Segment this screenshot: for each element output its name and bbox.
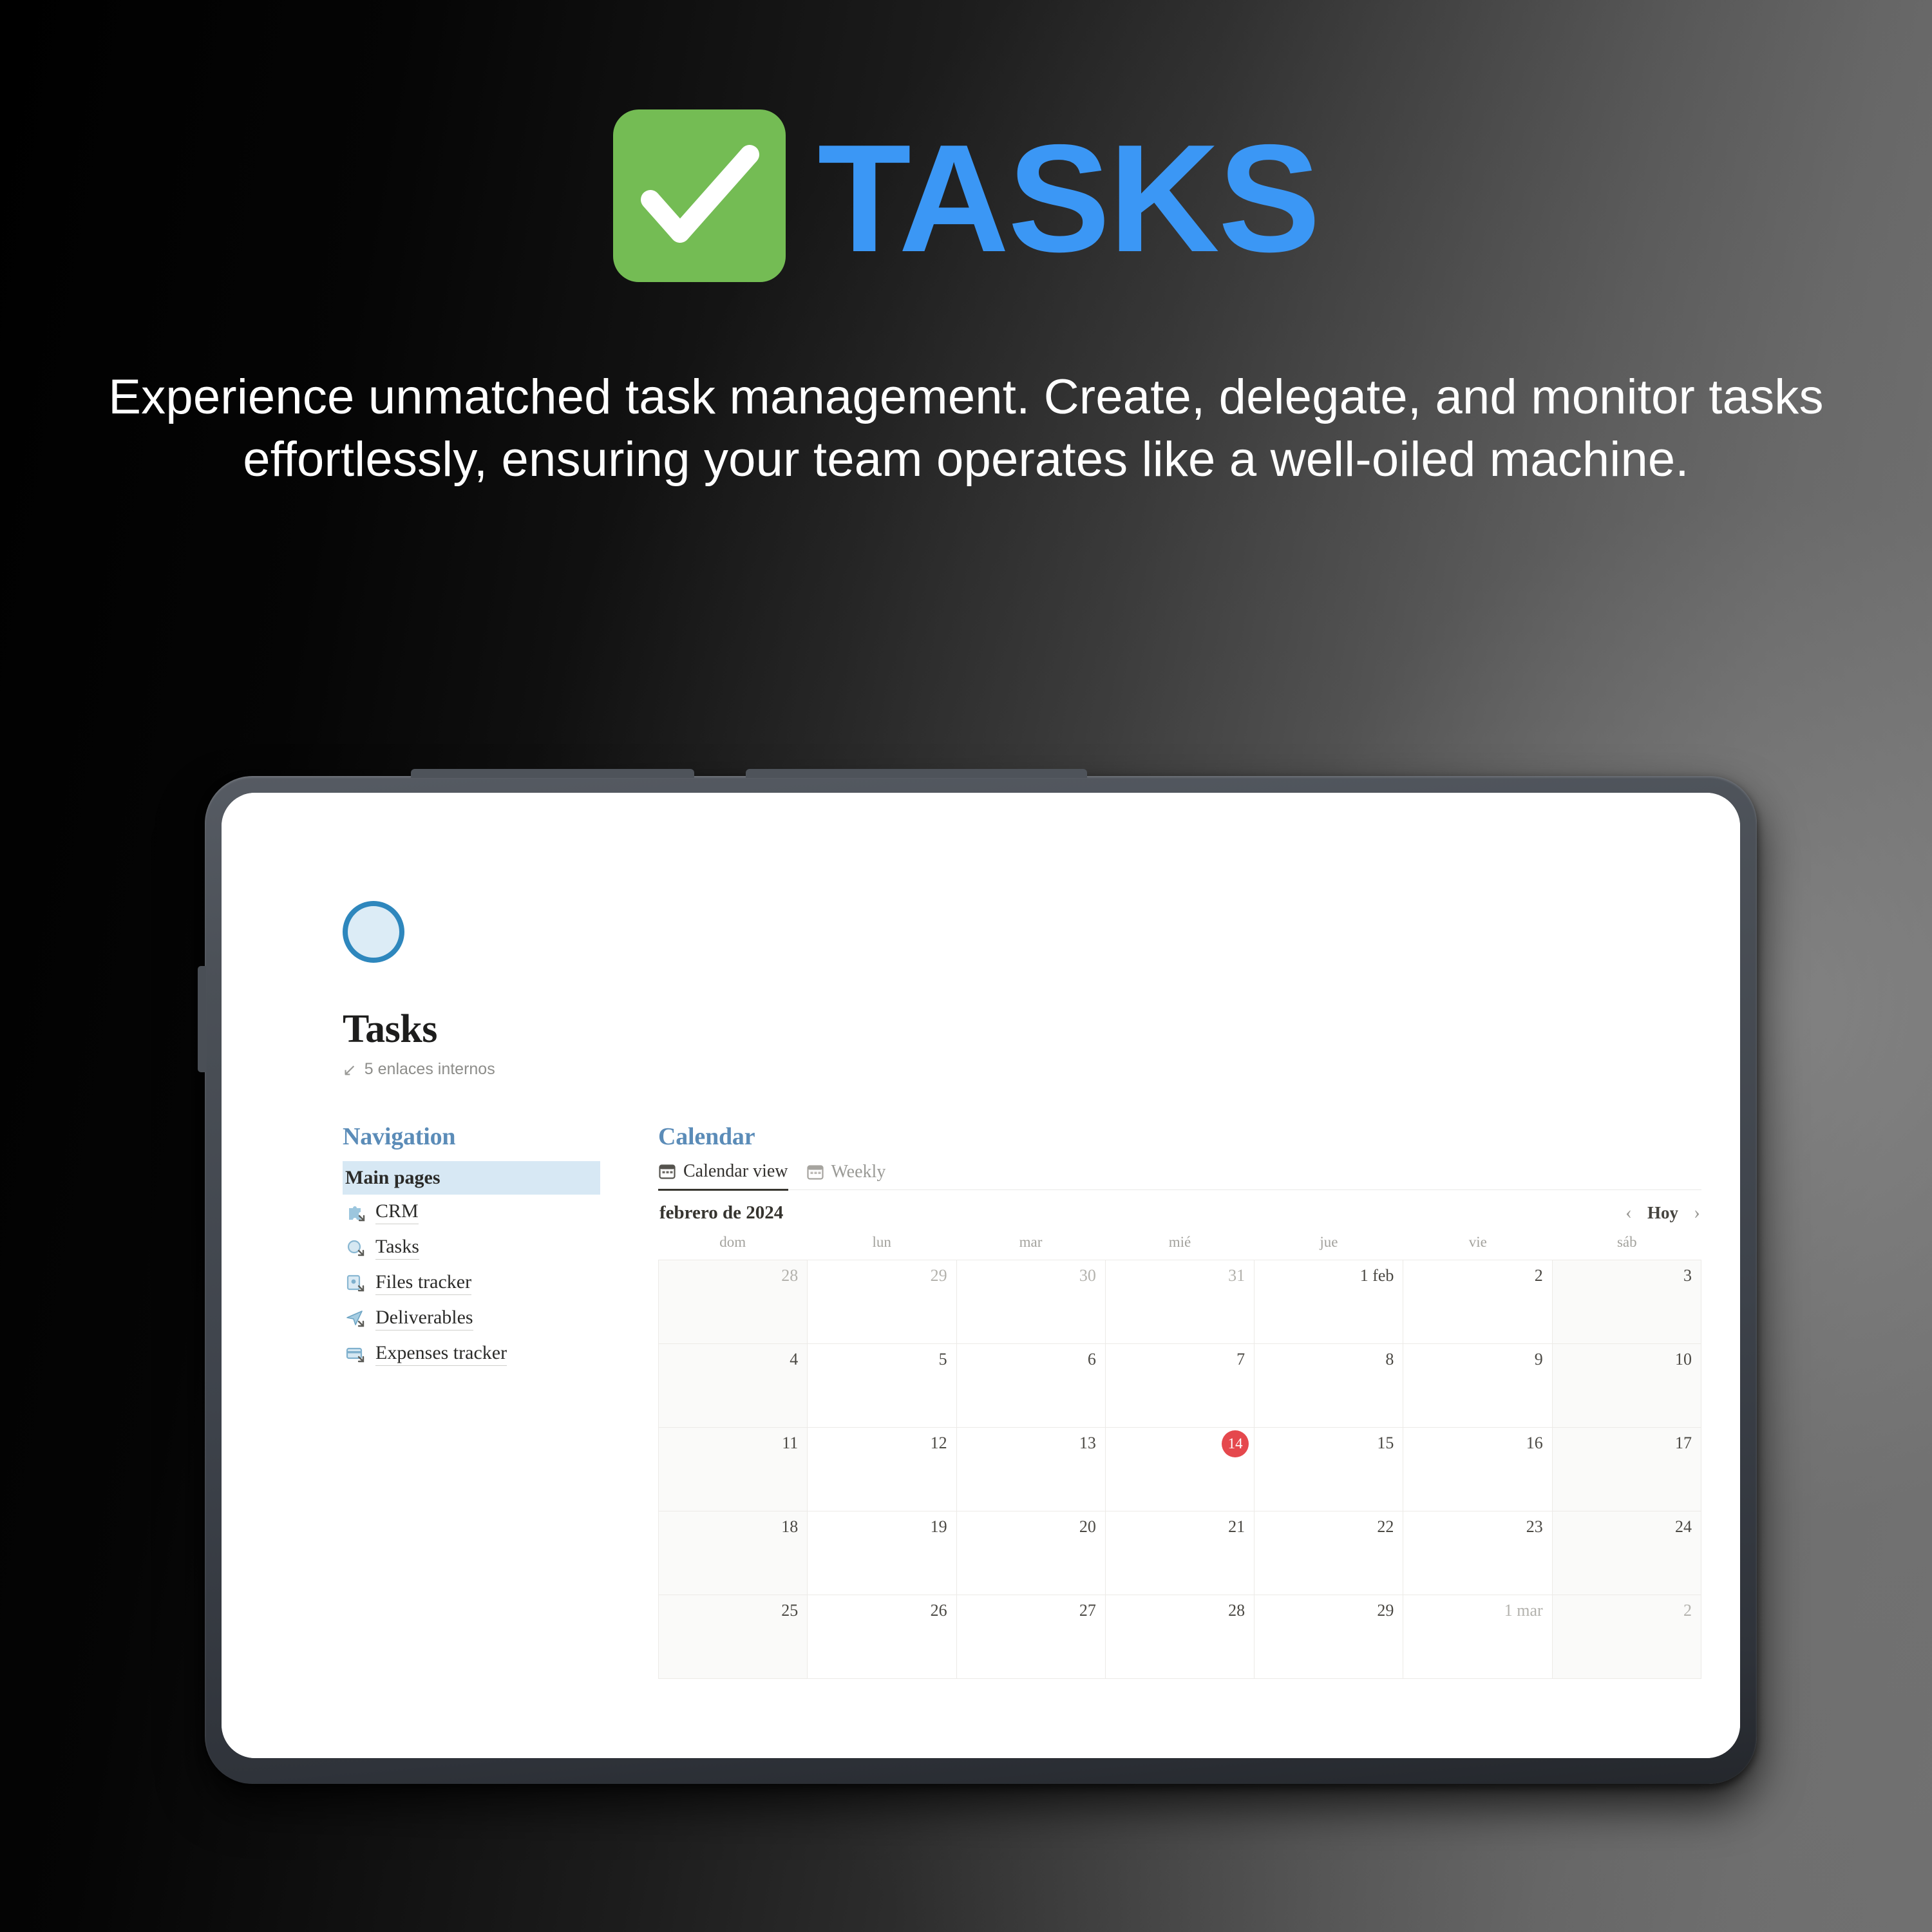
day-header: lun	[807, 1234, 956, 1260]
chevron-right-icon[interactable]: ›	[1694, 1202, 1700, 1224]
day-header: mié	[1105, 1234, 1254, 1260]
calendar-day-cell[interactable]: 13	[957, 1428, 1106, 1511]
calendar-day-cell[interactable]: 27	[957, 1595, 1106, 1679]
calendar-day-cell[interactable]: 4	[659, 1344, 808, 1428]
calendar-heading: Calendar	[658, 1122, 1701, 1151]
day-number: 7	[1236, 1350, 1245, 1369]
calendar-day-cell[interactable]: 26	[808, 1595, 956, 1679]
backlink-arrow-icon: ↘	[343, 1061, 357, 1078]
backlinks-row[interactable]: ↘ 5 enlaces internos	[343, 1060, 1740, 1079]
document-link-icon	[345, 1273, 367, 1294]
day-number: 27	[1079, 1601, 1096, 1620]
paper-plane-link-icon	[345, 1308, 367, 1330]
tab-label: Calendar view	[683, 1161, 788, 1182]
sidebar-item-expenses-tracker[interactable]: Expenses tracker	[343, 1336, 626, 1372]
calendar-icon	[806, 1163, 824, 1181]
sidebar-item-label: Deliverables	[375, 1307, 473, 1331]
day-number: 1 mar	[1504, 1601, 1543, 1620]
today-date-badge: 14	[1222, 1430, 1249, 1457]
calendar-day-cell[interactable]: 12	[808, 1428, 956, 1511]
day-number: 30	[1079, 1266, 1096, 1285]
calendar-day-cell[interactable]: 20	[957, 1511, 1106, 1595]
day-number: 29	[1377, 1601, 1394, 1620]
day-number: 24	[1675, 1517, 1692, 1537]
day-number: 29	[931, 1266, 947, 1285]
blue-circle-avatar-icon	[343, 901, 404, 963]
calendar-day-cell[interactable]: 5	[808, 1344, 956, 1428]
calendar-toolbar: febrero de 2024 ‹ Hoy ›	[658, 1190, 1701, 1234]
day-header: mar	[956, 1234, 1105, 1260]
tablet-screen: Tasks ↘ 5 enlaces internos Navigation Ma…	[222, 793, 1740, 1758]
navigation-heading: Navigation	[343, 1122, 626, 1151]
page-columns: Navigation Main pages CRM	[222, 1122, 1740, 1679]
calendar-day-cell[interactable]: 22	[1255, 1511, 1403, 1595]
calendar-day-cell[interactable]: 7	[1106, 1344, 1255, 1428]
day-number: 3	[1683, 1266, 1692, 1285]
calendar-nav-controls: ‹ Hoy ›	[1625, 1202, 1700, 1224]
sidebar-item-crm[interactable]: CRM	[343, 1195, 626, 1230]
calendar-day-cell[interactable]: 1 mar	[1403, 1595, 1552, 1679]
day-number: 13	[1079, 1434, 1096, 1453]
day-number: 17	[1675, 1434, 1692, 1453]
hero-subheadline: Experience unmatched task management. Cr…	[97, 282, 1835, 491]
calendar-day-cell[interactable]: 2	[1553, 1595, 1701, 1679]
day-number: 15	[1377, 1434, 1394, 1453]
day-number: 21	[1228, 1517, 1245, 1537]
puzzle-link-icon	[345, 1202, 367, 1224]
calendar-day-cell[interactable]: 19	[808, 1511, 956, 1595]
day-number: 31	[1228, 1266, 1245, 1285]
backlinks-label: 5 enlaces internos	[365, 1060, 495, 1079]
day-number: 19	[931, 1517, 947, 1537]
green-check-badge-icon	[613, 109, 786, 282]
calendar-day-headers: dom lun mar mié jue vie sáb	[658, 1234, 1701, 1260]
tab-calendar-view[interactable]: Calendar view	[658, 1161, 788, 1191]
today-button[interactable]: Hoy	[1647, 1203, 1678, 1223]
day-number: 16	[1526, 1434, 1543, 1453]
day-header: jue	[1255, 1234, 1403, 1260]
calendar-day-cell[interactable]: 28	[659, 1260, 808, 1344]
brand-title: TASKS	[818, 122, 1320, 276]
sidebar-item-main-pages[interactable]: Main pages	[343, 1161, 600, 1195]
calendar-view-tabs: Calendar view Weekly	[658, 1161, 1701, 1190]
day-number: 26	[931, 1601, 947, 1620]
day-number: 10	[1675, 1350, 1692, 1369]
calendar-day-cell[interactable]: 6	[957, 1344, 1106, 1428]
calendar-month-label: febrero de 2024	[659, 1202, 783, 1224]
calendar-day-cell[interactable]: 10	[1553, 1344, 1701, 1428]
calendar-day-cell[interactable]: 3	[1553, 1260, 1701, 1344]
calendar-icon	[658, 1162, 676, 1180]
day-number: 5	[939, 1350, 947, 1369]
day-number: 18	[781, 1517, 798, 1537]
sidebar-item-label: CRM	[375, 1200, 419, 1224]
day-number: 1 feb	[1360, 1266, 1394, 1285]
day-number: 2	[1535, 1266, 1543, 1285]
day-number: 12	[931, 1434, 947, 1453]
page-title: Tasks	[343, 1007, 1740, 1052]
circle-link-icon	[345, 1237, 367, 1259]
day-number: 22	[1377, 1517, 1394, 1537]
tablet-device-frame: Tasks ↘ 5 enlaces internos Navigation Ma…	[205, 776, 1757, 1784]
sidebar-item-files-tracker[interactable]: Files tracker	[343, 1265, 626, 1301]
calendar-day-cell[interactable]: 25	[659, 1595, 808, 1679]
calendar-column: Calendar Calendar view	[626, 1122, 1740, 1679]
notion-page: Tasks ↘ 5 enlaces internos Navigation Ma…	[222, 793, 1740, 1758]
calendar-day-cell[interactable]: 9	[1403, 1344, 1552, 1428]
calendar-day-cell[interactable]: 16	[1403, 1428, 1552, 1511]
day-number: 9	[1535, 1350, 1543, 1369]
chevron-left-icon[interactable]: ‹	[1625, 1202, 1632, 1224]
sidebar-item-label: Tasks	[375, 1236, 419, 1260]
calendar-day-cell[interactable]: 21	[1106, 1511, 1255, 1595]
day-number: 6	[1088, 1350, 1096, 1369]
tab-weekly[interactable]: Weekly	[806, 1162, 886, 1189]
calendar-day-cell[interactable]: 29	[1255, 1595, 1403, 1679]
navigation-column: Navigation Main pages CRM	[343, 1122, 626, 1679]
calendar-day-cell[interactable]: 23	[1403, 1511, 1552, 1595]
day-number: 8	[1385, 1350, 1394, 1369]
day-number: 20	[1079, 1517, 1096, 1537]
calendar-day-cell[interactable]: 31	[1106, 1260, 1255, 1344]
calendar-day-cell[interactable]: 14	[1106, 1428, 1255, 1511]
calendar-day-cell[interactable]: 11	[659, 1428, 808, 1511]
tab-label: Weekly	[831, 1162, 886, 1182]
calendar-day-cell[interactable]: 2	[1403, 1260, 1552, 1344]
calendar-day-cell[interactable]: 18	[659, 1511, 808, 1595]
day-header: sáb	[1553, 1234, 1701, 1260]
calendar-day-cell[interactable]: 17	[1553, 1428, 1701, 1511]
calendar-day-cell[interactable]: 30	[957, 1260, 1106, 1344]
day-number: 25	[781, 1601, 798, 1620]
day-number: 2	[1683, 1601, 1692, 1620]
day-header: dom	[658, 1234, 807, 1260]
day-number: 4	[790, 1350, 798, 1369]
hero-section: TASKS Experience unmatched task manageme…	[0, 0, 1932, 491]
calendar-day-cell[interactable]: 28	[1106, 1595, 1255, 1679]
day-number: 11	[782, 1434, 798, 1453]
sidebar-item-deliverables[interactable]: Deliverables	[343, 1301, 626, 1336]
day-number: 23	[1526, 1517, 1543, 1537]
calendar-grid: 282930311 feb234567891011121314151617181…	[658, 1260, 1701, 1679]
calendar-day-cell[interactable]: 29	[808, 1260, 956, 1344]
card-link-icon	[345, 1343, 367, 1365]
calendar-day-cell[interactable]: 1 feb	[1255, 1260, 1403, 1344]
day-number: 28	[781, 1266, 798, 1285]
sidebar-item-tasks[interactable]: Tasks	[343, 1230, 626, 1265]
calendar-day-cell[interactable]: 8	[1255, 1344, 1403, 1428]
calendar-day-cell[interactable]: 15	[1255, 1428, 1403, 1511]
volume-button[interactable]	[198, 966, 206, 1072]
sidebar-item-label: Files tracker	[375, 1271, 471, 1295]
brand-lockup: TASKS	[0, 0, 1932, 282]
day-number: 28	[1228, 1601, 1245, 1620]
sidebar-item-label: Expenses tracker	[375, 1342, 507, 1366]
day-header: vie	[1403, 1234, 1552, 1260]
calendar-day-cell[interactable]: 24	[1553, 1511, 1701, 1595]
